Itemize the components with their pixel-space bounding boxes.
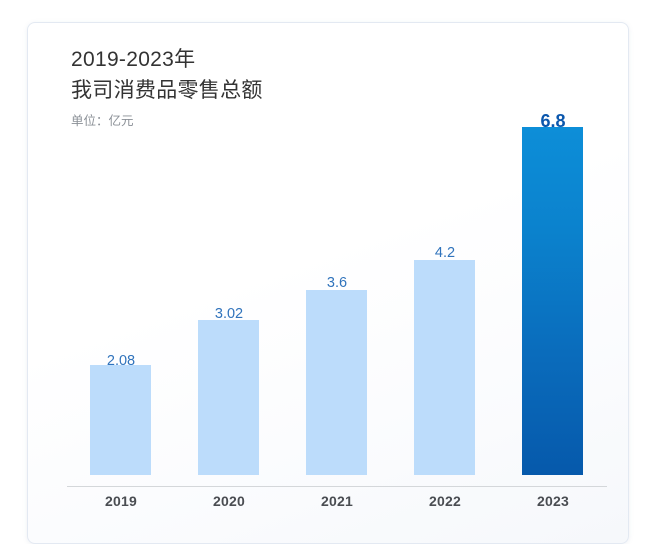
chart-plot-area: 2.08 2019 3.02 2020 3.6 2021 4.2 2022 [67,23,607,534]
x-label-2019: 2019 [67,493,175,509]
bar-group-2021[interactable]: 3.6 2021 [283,23,391,523]
bar-value-2021: 3.6 [283,275,391,291]
bar-group-2022[interactable]: 4.2 2022 [391,23,499,523]
x-label-2021: 2021 [283,493,391,509]
bar-2021[interactable] [306,290,367,475]
chart-card: 2019-2023年 我司消费品零售总额 单位：亿元 2.08 2019 3.0… [27,22,629,544]
x-label-2023: 2023 [499,493,607,509]
bar-2020[interactable] [198,320,259,475]
screenshot-root: 2019-2023年 我司消费品零售总额 单位：亿元 2.08 2019 3.0… [0,0,654,511]
bar-group-2020[interactable]: 3.02 2020 [175,23,283,523]
bar-2022[interactable] [414,260,475,475]
bar-2019[interactable] [90,365,151,475]
x-label-2022: 2022 [391,493,499,509]
bar-group-2023[interactable]: 6.8 2023 [499,23,607,523]
bar-group-2019[interactable]: 2.08 2019 [67,23,175,523]
bar-value-2022: 4.2 [391,245,499,261]
x-label-2020: 2020 [175,493,283,509]
bar-2023[interactable] [522,127,583,475]
